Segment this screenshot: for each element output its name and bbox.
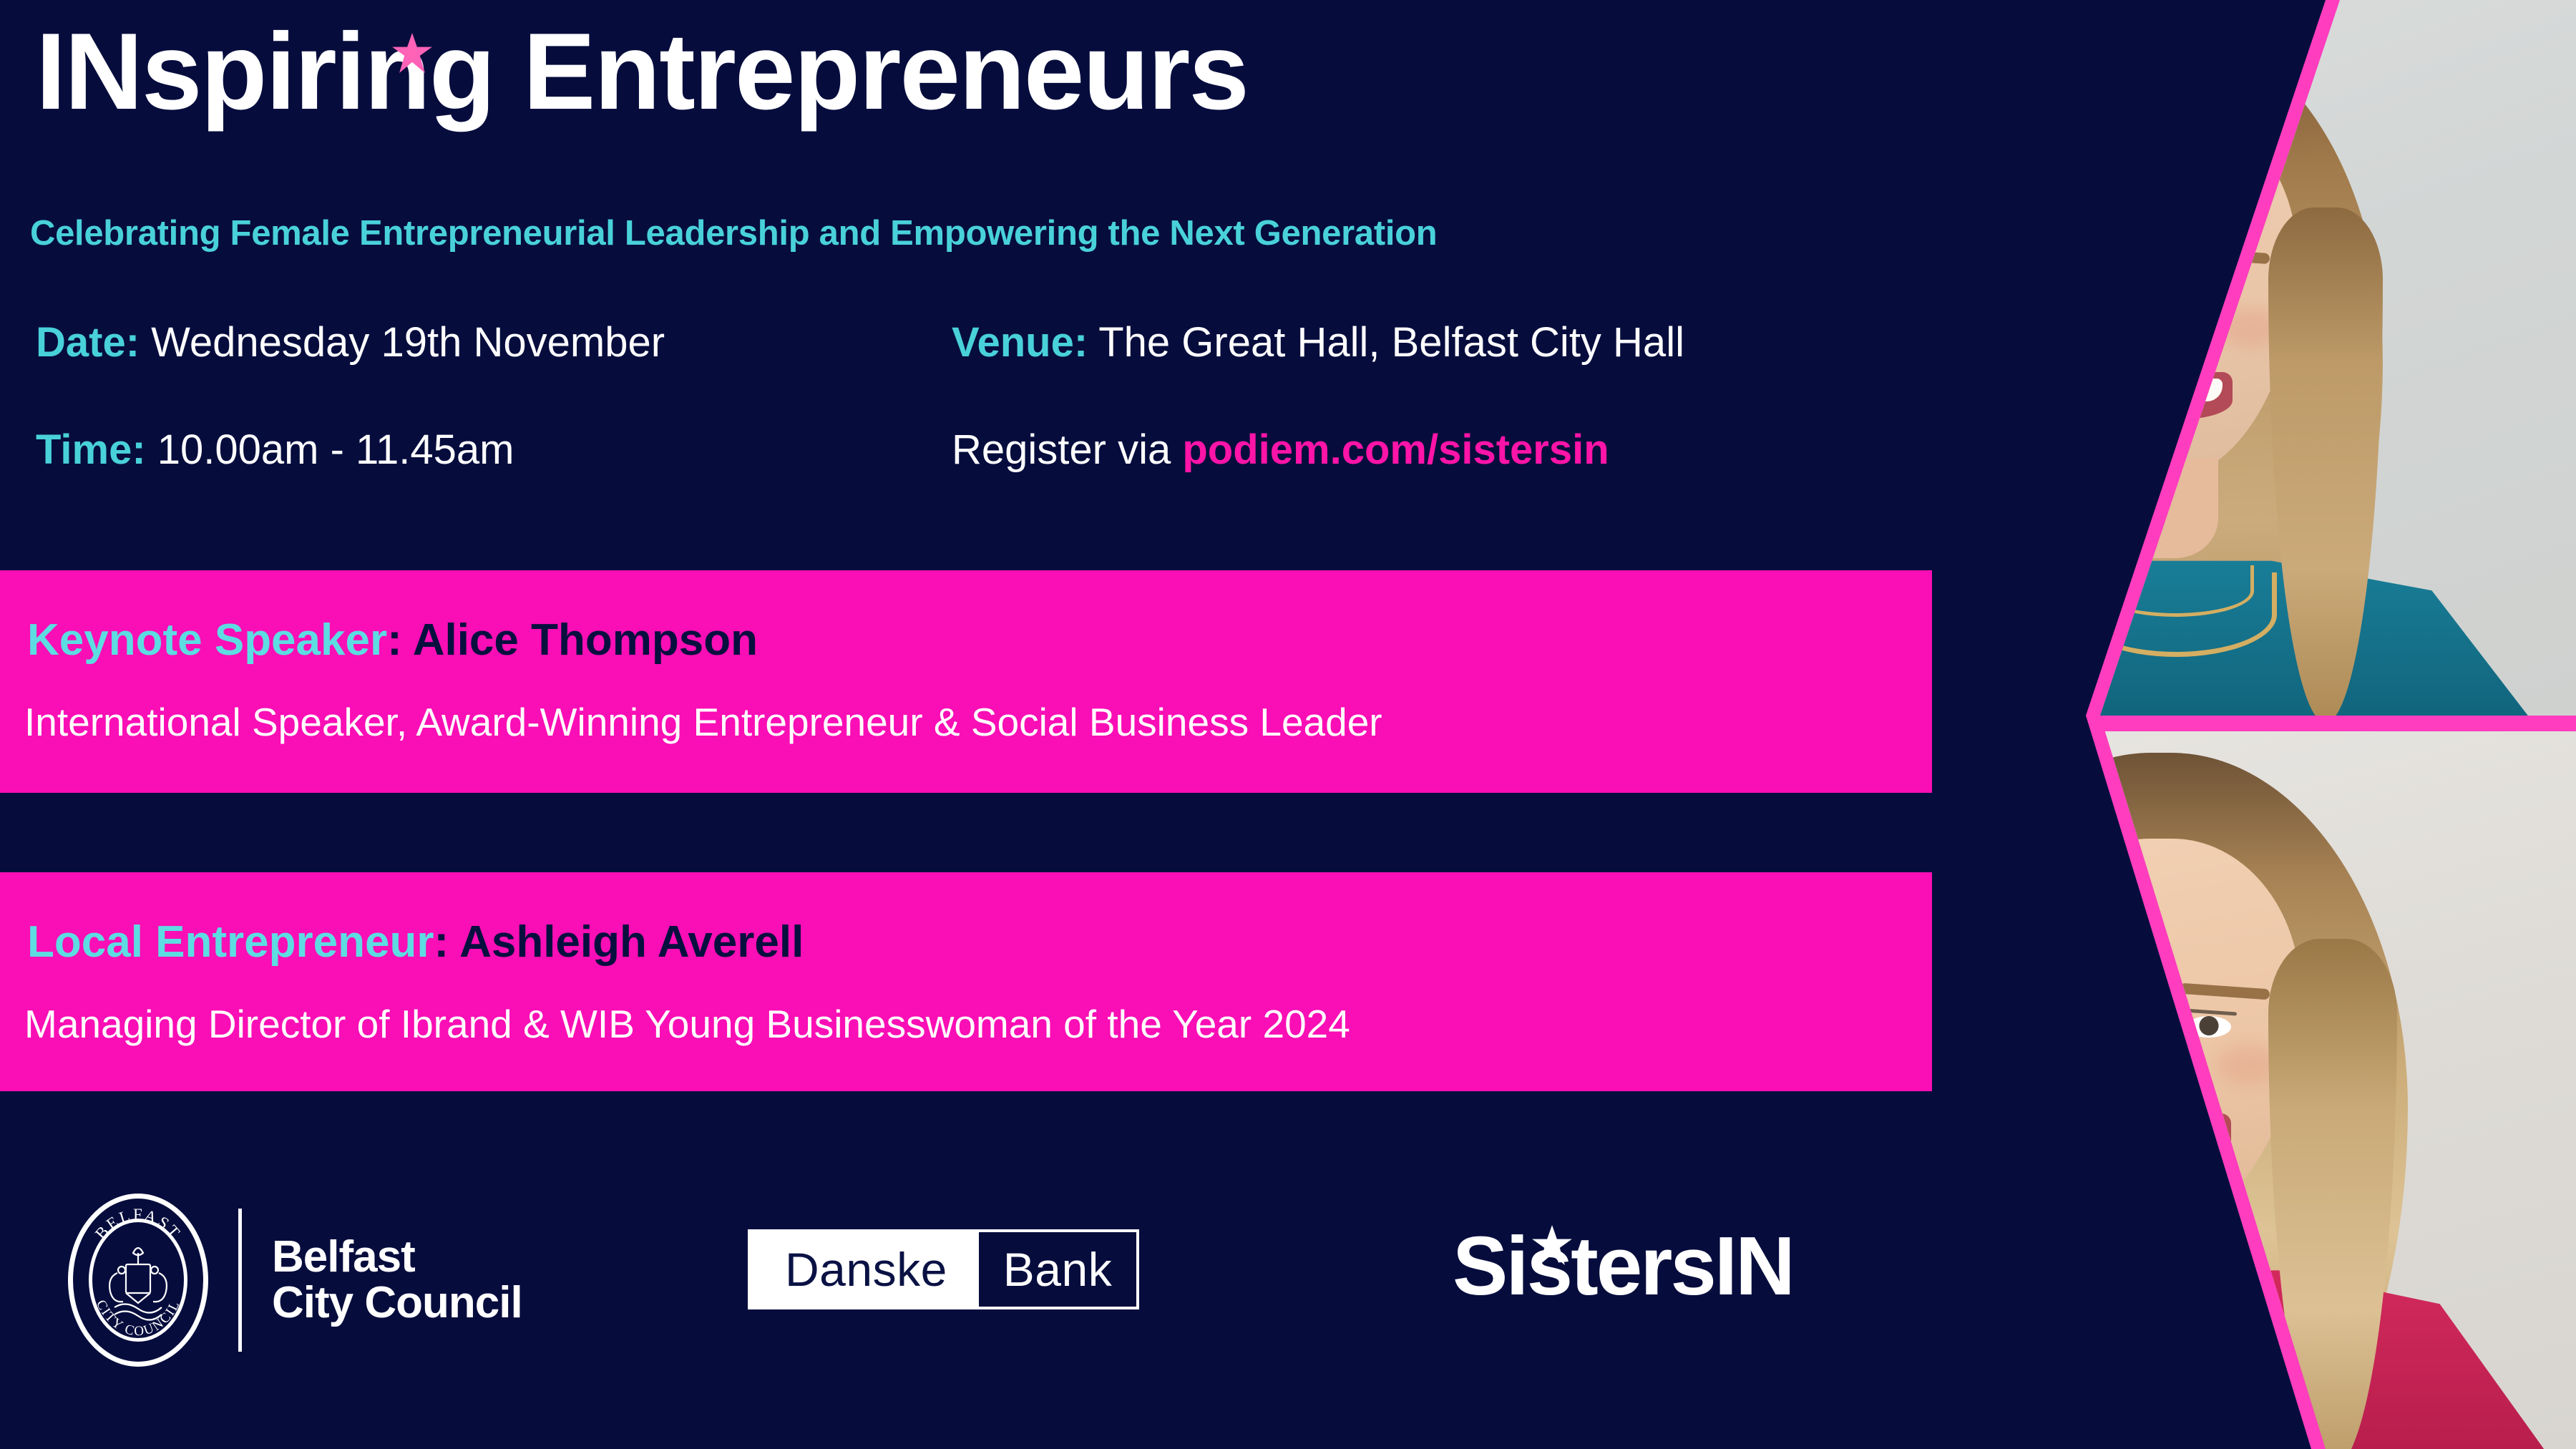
sponsor-logos: BELFAST CITY COUNCIL	[0, 1174, 1975, 1388]
bank-word: Bank	[976, 1229, 1139, 1309]
keynote-separator: :	[387, 615, 413, 665]
danske-bank-logo: Danske Bank	[748, 1229, 1139, 1309]
detail-register: Register via podiem.com/sistersin	[952, 426, 1609, 474]
bcc-line-1: Belfast	[272, 1234, 522, 1280]
danske-word: Danske	[748, 1229, 976, 1309]
local-role-label: Local Entrepreneur	[27, 917, 434, 967]
keynote-speaker-name: Alice Thompson	[413, 615, 758, 665]
date-value: Wednesday 19th November	[151, 319, 665, 366]
keynote-speaker-bio: International Speaker, Award-Winning Ent…	[24, 699, 1382, 745]
detail-date: Date: Wednesday 19th November	[36, 318, 665, 366]
event-poster: INspiring Entrepreneurs Celebrating Fema…	[0, 0, 2576, 1449]
event-details: Date: Wednesday 19th November Venue: The…	[36, 318, 1896, 533]
date-label: Date:	[36, 319, 140, 366]
belfast-city-council-wordmark: Belfast City Council	[272, 1234, 522, 1327]
venue-label: Venue:	[952, 319, 1088, 366]
svg-text:BELFAST: BELFAST	[92, 1206, 185, 1243]
detail-time: Time: 10.00am - 11.45am	[36, 426, 514, 474]
sistersin-logo: SistersIN	[1453, 1218, 1793, 1314]
page-title: INspiring Entrepreneurs	[36, 17, 1248, 126]
time-label: Time:	[36, 426, 146, 473]
title-block: INspiring Entrepreneurs	[36, 17, 1248, 126]
detail-row-time-register: Time: 10.00am - 11.45am Register via pod…	[36, 426, 1896, 533]
registration-link[interactable]: podiem.com/sistersin	[1182, 426, 1609, 473]
logo-divider	[238, 1209, 242, 1352]
page-subtitle: Celebrating Female Entrepreneurial Leade…	[30, 213, 1437, 253]
detail-row-date-venue: Date: Wednesday 19th November Venue: The…	[36, 318, 1896, 426]
local-entrepreneur-band: Local Entrepreneur: Ashleigh Averell Man…	[0, 872, 1932, 1091]
local-entrepreneur-bio: Managing Director of Ibrand & WIB Young …	[24, 1001, 1350, 1047]
local-separator: :	[434, 917, 459, 967]
keynote-role-label: Keynote Speaker	[27, 615, 387, 665]
sistersin-wordmark: SistersIN	[1453, 1219, 1793, 1312]
time-value: 10.00am - 11.45am	[157, 426, 514, 473]
bcc-line-2: City Council	[272, 1280, 522, 1326]
detail-venue: Venue: The Great Hall, Belfast City Hall	[952, 318, 1684, 366]
local-entrepreneur-heading: Local Entrepreneur: Ashleigh Averell	[27, 917, 804, 967]
keynote-speaker-band: Keynote Speaker: Alice Thompson Internat…	[0, 570, 1932, 793]
venue-value: The Great Hall, Belfast City Hall	[1098, 319, 1684, 366]
keynote-speaker-heading: Keynote Speaker: Alice Thompson	[27, 615, 758, 665]
belfast-crest-icon: BELFAST CITY COUNCIL	[68, 1194, 208, 1367]
belfast-city-council-logo: BELFAST CITY COUNCIL	[68, 1194, 522, 1367]
local-entrepreneur-name: Ashleigh Averell	[459, 917, 804, 967]
register-prefix: Register via	[952, 426, 1171, 473]
